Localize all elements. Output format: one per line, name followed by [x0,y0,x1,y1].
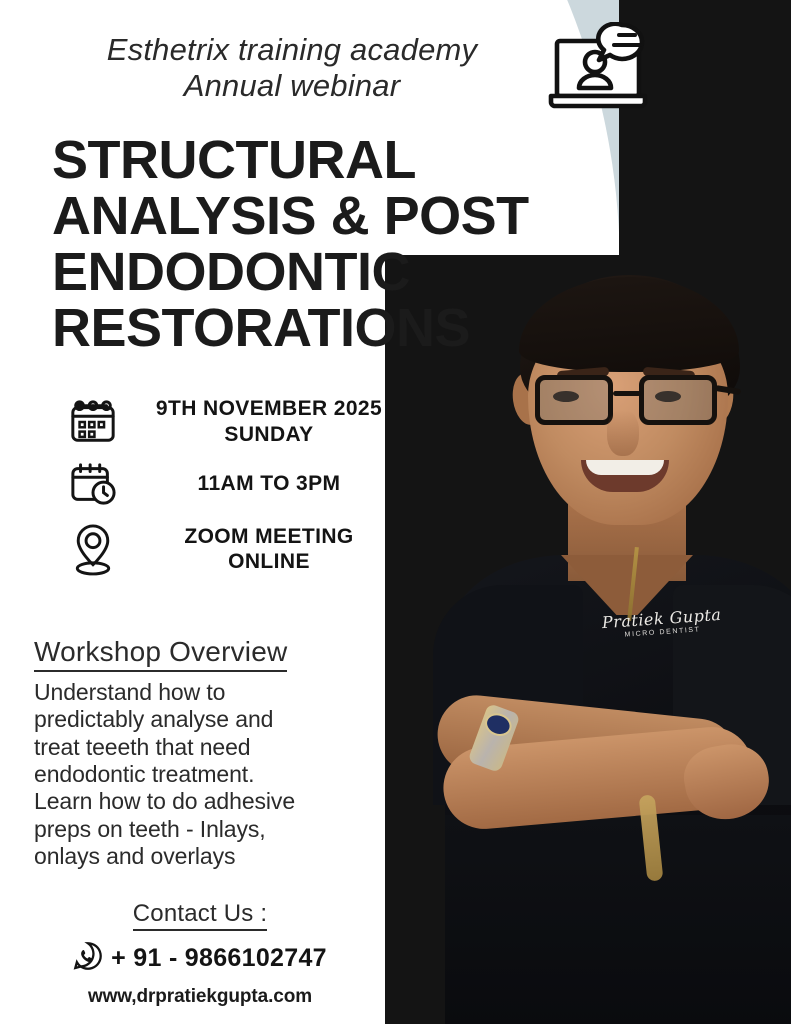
contact-phone-number[interactable]: + 91 - 9866102747 [111,944,327,973]
workshop-overview: Workshop Overview Understand how to pred… [34,636,374,871]
overview-line-5: Learn how to do adhesive [34,788,374,815]
overview-line-6: preps on teeth - Inlays, [34,816,374,843]
overview-line-3: treat teeeth that need [34,734,374,761]
title-line-3: ENDODONTIC [52,244,592,300]
contact-heading: Contact Us : [133,900,267,931]
title-line-1: STRUCTURAL [52,132,592,188]
detail-time-line-1: 11AM TO 3PM [198,472,341,495]
event-details: 9TH NOVEMBER 2025 SUNDAY 11AM TO 3PM [62,396,462,591]
calendar-clock-icon [62,461,124,507]
photo-lens-right [639,375,717,425]
overview-line-7: onlays and overlays [34,843,374,870]
photo-teeth [586,460,664,475]
webinar-poster: Pratiek Gupta MICRO DENTIST Esthetrix tr… [0,0,791,1024]
webinar-laptop-icon [548,22,668,114]
detail-date-line-1: 9TH NOVEMBER 2025 [156,397,382,420]
presenter-photo: Pratiek Gupta MICRO DENTIST [385,255,791,1024]
detail-location-line-2: ONLINE [124,549,414,575]
header-line-2: Annual webinar [62,68,522,104]
detail-text-time: 11AM TO 3PM [124,471,462,497]
photo-watch-face [482,710,515,740]
title-line-2: ANALYSIS & POST [52,188,592,244]
overview-line-4: endodontic treatment. [34,761,374,788]
detail-row-date: 9TH NOVEMBER 2025 SUNDAY [62,396,462,447]
overview-line-1: Understand how to [34,679,374,706]
contact-website[interactable]: www,drpratiekgupta.com [20,986,380,1008]
header-subtitle: Esthetrix training academy Annual webina… [62,32,522,105]
detail-text-date: 9TH NOVEMBER 2025 SUNDAY [124,396,462,447]
photo-glasses-bridge [613,391,641,396]
overview-heading: Workshop Overview [34,636,287,672]
location-pin-icon [62,521,124,577]
poster-title: STRUCTURAL ANALYSIS & POST ENDODONTIC RE… [52,132,592,357]
photo-lens-left [535,375,613,425]
overview-line-2: predictably analyse and [34,706,374,733]
detail-date-line-2: SUNDAY [124,422,414,448]
whatsapp-icon [73,941,103,976]
header-line-1: Esthetrix training academy [62,32,522,68]
contact-phone-row[interactable]: + 91 - 9866102747 [20,941,380,976]
photo-torso-lower [445,815,791,1024]
title-line-4: RESTORATIONS [52,300,592,356]
detail-location-line-1: ZOOM MEETING [184,525,353,548]
detail-row-time: 11AM TO 3PM [62,461,462,507]
detail-text-location: ZOOM MEETING ONLINE [124,524,462,575]
contact-section: Contact Us : + 91 - 9866102747 www,drpra… [20,900,380,1008]
detail-row-location: ZOOM MEETING ONLINE [62,521,462,577]
photo-nose [607,410,639,456]
overview-body: Understand how to predictably analyse an… [34,679,374,871]
calendar-icon [62,398,124,446]
